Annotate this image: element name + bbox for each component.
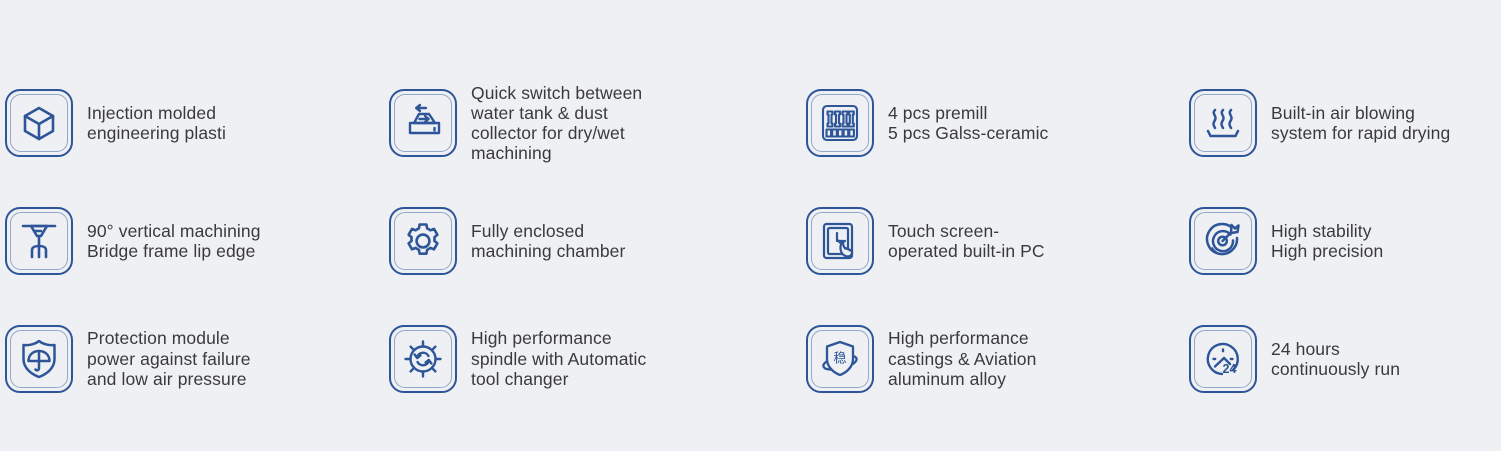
- feature-item-vertical-machining-bridge-frame: 90° vertical machining Bridge frame lip …: [0, 182, 385, 300]
- feature-item-touch-screen-built-in-pc: Touch screen- operated built-in PC: [795, 182, 1185, 300]
- svg-text:稳: 稳: [833, 351, 846, 367]
- feature-item-high-stability-precision: High stability High precision: [1185, 182, 1501, 300]
- bottom-spacer: [0, 418, 1501, 451]
- feature-grid: Injection molded engineering plasti Quic…: [0, 0, 1501, 451]
- feature-item-spindle-automatic-tool-changer: High performance spindle with Automatic …: [385, 300, 795, 418]
- feature-label: Quick switch between water tank & dust c…: [471, 83, 642, 164]
- target-dart-icon: [1189, 207, 1257, 275]
- feature-label: 4 pcs premill 5 pcs Galss-ceramic: [888, 103, 1048, 144]
- vertical-spindle-bridge-icon: [5, 207, 73, 275]
- shield-stable-orbit-icon: 稳: [806, 325, 874, 393]
- spindle-tool-changer-icon: [389, 325, 457, 393]
- feature-label: Fully enclosed machining chamber: [471, 221, 625, 262]
- tool-magazine-icon: [806, 89, 874, 157]
- feature-label: 90° vertical machining Bridge frame lip …: [87, 221, 261, 262]
- water-tank-dust-collector-swap-icon: [389, 89, 457, 157]
- cube-box-icon: [5, 89, 73, 157]
- clock-24-icon: 24: [1189, 325, 1257, 393]
- feature-item-fully-enclosed-chamber: Fully enclosed machining chamber: [385, 182, 795, 300]
- feature-label: Built-in air blowing system for rapid dr…: [1271, 103, 1450, 144]
- air-blowing-heat-waves-icon: [1189, 89, 1257, 157]
- shield-umbrella-icon: [5, 325, 73, 393]
- feature-label: 24 hours continuously run: [1271, 339, 1400, 380]
- feature-label: High performance spindle with Automatic …: [471, 328, 646, 390]
- feature-label: High performance castings & Aviation alu…: [888, 328, 1036, 390]
- svg-text:24: 24: [1223, 362, 1237, 376]
- feature-item-continuous-run-24h: 24 24 hours continuously run: [1185, 300, 1501, 418]
- feature-item-protection-module: Protection module power against failure …: [0, 300, 385, 418]
- feature-label: Injection molded engineering plasti: [87, 103, 226, 144]
- feature-label: High stability High precision: [1271, 221, 1383, 262]
- feature-item-injection-molded-plastic: Injection molded engineering plasti: [0, 64, 385, 182]
- feature-label: Protection module power against failure …: [87, 328, 251, 390]
- feature-item-quick-switch-tank-collector: Quick switch between water tank & dust c…: [385, 64, 795, 182]
- top-spacer: [0, 0, 1501, 64]
- feature-item-built-in-air-blowing: Built-in air blowing system for rapid dr…: [1185, 64, 1501, 182]
- feature-label: Touch screen- operated built-in PC: [888, 221, 1045, 262]
- touch-screen-hand-icon: [806, 207, 874, 275]
- feature-item-tool-magazine-capacity: 4 pcs premill 5 pcs Galss-ceramic: [795, 64, 1185, 182]
- gear-icon: [389, 207, 457, 275]
- feature-item-castings-aviation-aluminum: 稳 High performance castings & Aviation a…: [795, 300, 1185, 418]
